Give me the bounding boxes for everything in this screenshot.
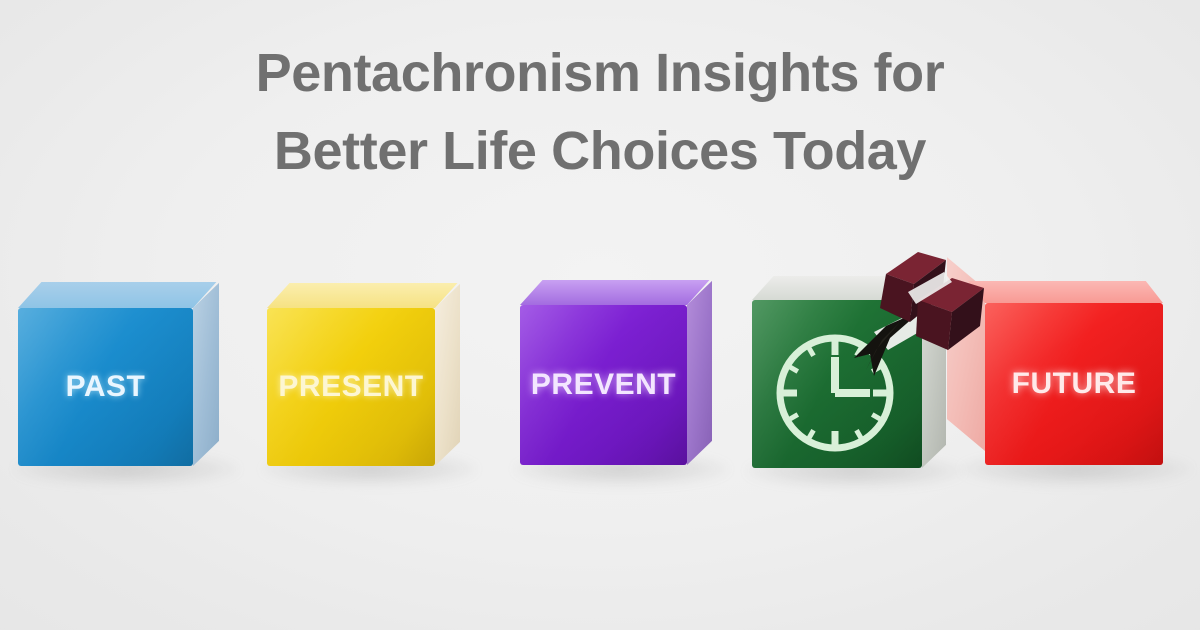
poster-canvas: Pentachronism Insights for Better Life C… [0, 0, 1200, 630]
cube-past-side-face [193, 283, 219, 466]
page-title-line-1: Pentachronism Insights for [0, 34, 1200, 112]
cube-past-top-face [18, 282, 216, 308]
cube-present-side-face [435, 284, 460, 466]
cube-future-top-face [968, 281, 1163, 303]
cube-prevent-top-face-render [520, 280, 710, 305]
cube-present: PRESENT [267, 308, 435, 466]
cube-past-front-face [18, 308, 193, 466]
cube-present-front-face [267, 308, 435, 466]
mallet-cube-icon [862, 248, 990, 360]
page-title: Pentachronism Insights for Better Life C… [0, 34, 1200, 190]
page-title-line-2: Better Life Choices Today [0, 112, 1200, 190]
cube-past: PAST [18, 308, 193, 466]
cube-future: FUTURE [985, 303, 1163, 465]
cube-prevent: PREVENT [520, 305, 687, 465]
cube-prevent-front-face [520, 305, 687, 465]
cube-present-top-face [267, 283, 458, 308]
cube-future-front-face [985, 303, 1163, 465]
cube-prevent-side-face [687, 281, 712, 465]
